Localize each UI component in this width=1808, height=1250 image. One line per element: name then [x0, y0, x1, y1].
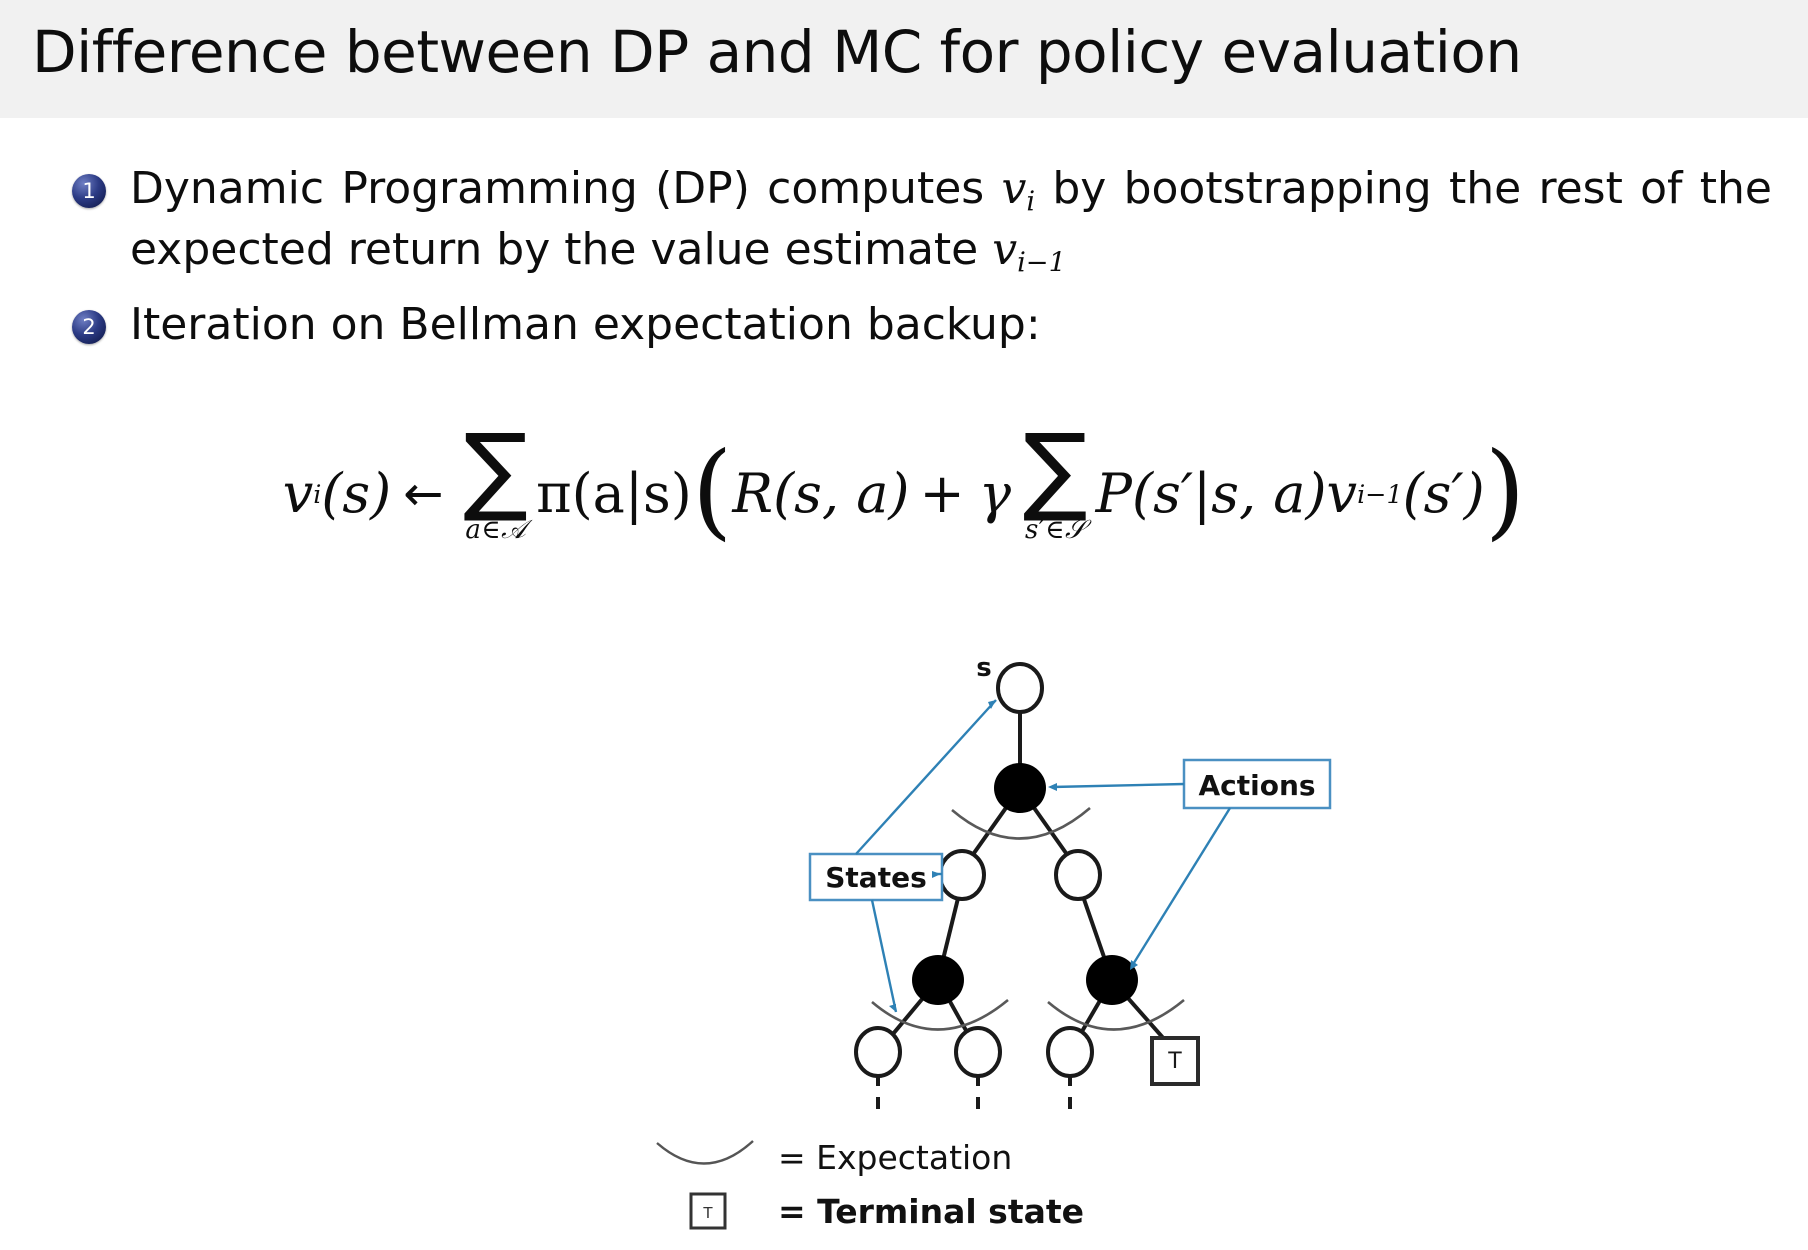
callout-leader-line — [1052, 784, 1184, 787]
eq-rhs-arg: (s′) — [1403, 462, 1485, 525]
math-subscript: i — [1026, 187, 1035, 218]
terminal-glyph-label: T — [702, 1204, 713, 1222]
sigma-icon: ∑ — [463, 430, 528, 509]
state-node-root — [998, 664, 1042, 712]
terminal-label: T — [1167, 1049, 1182, 1074]
callout-leader-line — [856, 700, 996, 854]
eq-open-paren: ( — [692, 458, 733, 522]
bullet-number-badge: 1 — [72, 174, 106, 208]
eq-transition-term: P(s′|s, a) — [1096, 462, 1327, 525]
eq-assign-arrow: ← — [403, 466, 443, 522]
legend-label-terminal: = Terminal state — [778, 1192, 1084, 1231]
eq-sum-index: s′ — [1025, 515, 1045, 545]
bullet-number-badge: 2 — [72, 310, 106, 344]
eq-close-paren: ) — [1485, 458, 1526, 522]
callout-states-label: States — [825, 861, 927, 894]
callout-arrowhead — [889, 1004, 896, 1012]
eq-gamma: γ — [979, 462, 1011, 525]
page-title: Difference between DP and MC for policy … — [32, 18, 1522, 86]
state-node — [956, 1028, 1000, 1076]
state-node — [1056, 851, 1100, 899]
title-band: Difference between DP and MC for policy … — [0, 0, 1808, 118]
eq-lhs-subscript: i — [313, 479, 321, 509]
eq-lhs-arg: (s) — [321, 462, 391, 525]
bullet-list: 1 Dynamic Programming (DP) computes vi b… — [72, 160, 1772, 369]
legend-item-expectation: = Expectation — [650, 1130, 1350, 1184]
callout-actions-label: Actions — [1198, 769, 1315, 802]
eq-sum-limit: s′∈𝒮 — [1025, 515, 1086, 546]
element-of-icon: ∈ — [481, 515, 501, 545]
bullet-text: Dynamic Programming (DP) computes vi by … — [130, 160, 1772, 282]
diagram-legend: = Expectation T = Terminal state — [650, 1130, 1350, 1238]
list-item: 1 Dynamic Programming (DP) computes vi b… — [72, 160, 1772, 282]
callout-leader-line — [872, 900, 896, 1012]
callout-arrowhead — [1048, 783, 1057, 791]
eq-summation-actions: ∑ a∈𝒜 — [463, 430, 528, 546]
math-subscript: i−1 — [1017, 248, 1066, 279]
expectation-arc-icon — [650, 1137, 760, 1177]
action-node — [912, 955, 964, 1005]
legend-label-expectation: = Expectation — [778, 1138, 1012, 1177]
math-var-v: v — [992, 224, 1017, 275]
action-node — [1086, 955, 1138, 1005]
equation-inline: vi(s) ← ∑ a∈𝒜 π(a|s) ( R(s, a) + γ ∑ s′∈… — [283, 436, 1526, 552]
root-state-label: s — [976, 660, 991, 683]
backup-diagram: T s States Actions — [760, 660, 1380, 1120]
terminal-state-node: T — [1152, 1038, 1198, 1084]
expectation-arc-path — [657, 1141, 753, 1164]
element-of-icon: ∈ — [1045, 515, 1065, 545]
bullet-text: Iteration on Bellman expectation backup: — [130, 296, 1772, 355]
list-item: 2 Iteration on Bellman expectation backu… — [72, 296, 1772, 355]
state-node — [856, 1028, 900, 1076]
eq-sum-limit: a∈𝒜 — [465, 515, 526, 546]
math-var-v: v — [1001, 163, 1026, 214]
bullet-text-part: Dynamic Programming (DP) computes — [130, 163, 1001, 214]
eq-action-set: 𝒜 — [501, 515, 526, 545]
eq-policy-term: π(a|s) — [536, 462, 692, 525]
eq-summation-states: ∑ s′∈𝒮 — [1023, 430, 1088, 546]
terminal-square-icon: T — [650, 1188, 760, 1234]
eq-rhs-subscript: i−1 — [1357, 479, 1403, 509]
action-node — [994, 763, 1046, 813]
eq-sum-index: a — [465, 515, 481, 545]
sigma-icon: ∑ — [1023, 430, 1088, 509]
bellman-expectation-equation: vi(s) ← ∑ a∈𝒜 π(a|s) ( R(s, a) + γ ∑ s′∈… — [0, 436, 1808, 552]
eq-lhs-v: v — [283, 462, 314, 525]
eq-plus-sign: + — [919, 462, 964, 525]
legend-item-terminal: T = Terminal state — [650, 1184, 1350, 1238]
eq-rhs-v: v — [1327, 462, 1358, 525]
eq-state-set: 𝒮 — [1065, 515, 1086, 545]
backup-diagram-svg: T s States Actions — [760, 660, 1380, 1120]
state-node — [940, 851, 984, 899]
eq-reward-term: R(s, a) — [732, 462, 909, 525]
callout-leader-line — [1132, 808, 1230, 966]
state-node — [1048, 1028, 1092, 1076]
continuation-dashes — [878, 1074, 1070, 1120]
